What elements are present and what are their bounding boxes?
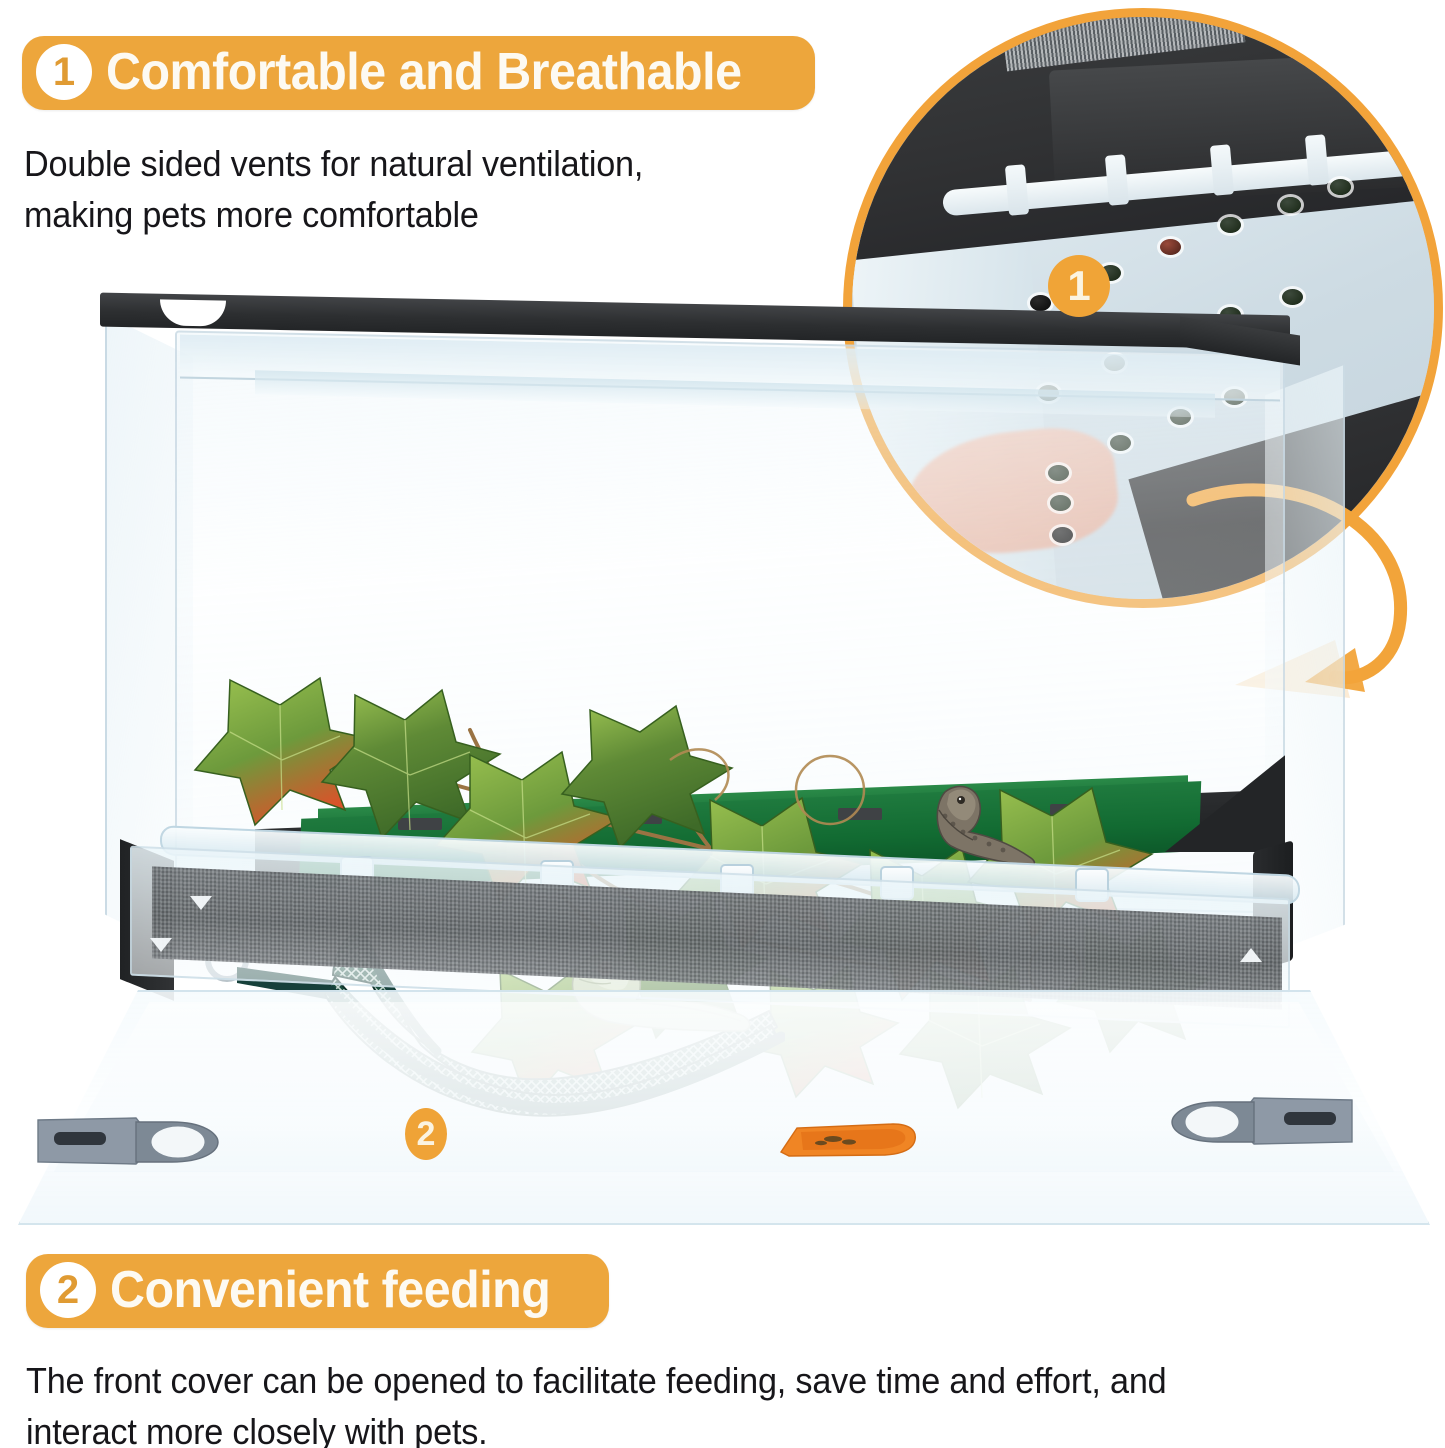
section-2-heading-pill: 2 Convenient feeding [26, 1254, 609, 1328]
product-illustration [0, 290, 1445, 1230]
section-1-heading-pill: 1 Comfortable and Breathable [22, 36, 815, 110]
lip-marker-arrow [1240, 948, 1262, 962]
section-2-heading-text: Convenient feeding [110, 1263, 550, 1318]
section-1-body-text: Double sided vents for natural ventilati… [24, 138, 746, 240]
front-cover-latch-right[interactable] [1158, 1092, 1358, 1148]
callout-number-badge: 1 [1048, 255, 1110, 317]
food-dish [775, 1118, 925, 1160]
section-1-heading-text: Comfortable and Breathable [106, 45, 742, 100]
vent-hole [1160, 239, 1181, 255]
section-2-body-text: The front cover can be opened to facilit… [26, 1355, 1261, 1448]
vent-hole [1280, 197, 1301, 213]
section-2-number-badge: 2 [40, 1262, 96, 1318]
bearded-dragon [905, 780, 1045, 870]
infographic-page: 1 Comfortable and Breathable Double side… [0, 0, 1445, 1448]
product-number-badge: 2 [405, 1108, 447, 1160]
rail-hook-4 [1305, 134, 1329, 186]
section-1-number-badge: 1 [36, 44, 92, 100]
vent-hole [1220, 217, 1241, 233]
lip-marker-arrow [150, 938, 172, 952]
vent-hole [1330, 179, 1351, 195]
rail-hook-2 [1105, 154, 1129, 206]
front-cover-latch-left[interactable] [32, 1112, 232, 1168]
rail-hook-1 [1005, 164, 1029, 216]
lip-marker-arrow [190, 896, 212, 910]
rail-hook-3 [1210, 144, 1234, 196]
